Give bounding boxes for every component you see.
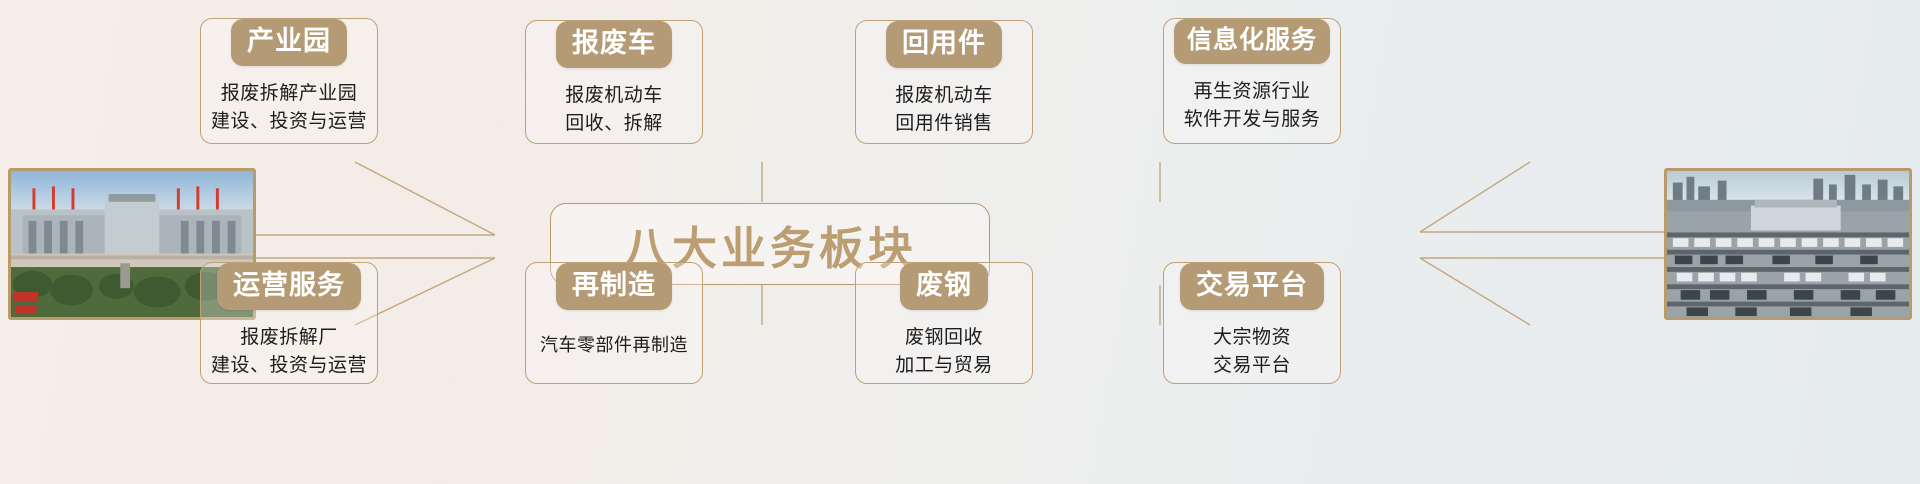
card-badge-industrial-park: 产业园	[231, 19, 347, 66]
card-trading-platform[interactable]: 交易平台 大宗物资 交易平台	[1163, 262, 1341, 384]
card-badge-operation-service: 运营服务	[217, 263, 361, 310]
card-desc-scrap-vehicle: 报废机动车 回收、拆解	[565, 82, 663, 137]
card-information-service[interactable]: 信息化服务 再生资源行业 软件开发与服务	[1163, 18, 1341, 144]
card-badge-reusable-parts: 回用件	[886, 21, 1002, 68]
card-desc-trading-platform: 大宗物资 交易平台	[1213, 324, 1291, 379]
card-desc-remanufacturing: 汽车零部件再制造	[540, 332, 688, 358]
card-scrap-vehicle[interactable]: 报废车 报废机动车 回收、拆解	[525, 20, 703, 144]
desc-line: 大宗物资	[1213, 324, 1291, 352]
desc-line: 废钢回收	[895, 324, 993, 352]
card-badge-trading-platform: 交易平台	[1180, 263, 1324, 310]
card-badge-information-service: 信息化服务	[1174, 19, 1330, 64]
desc-line: 加工与贸易	[895, 352, 993, 380]
desc-line: 回收、拆解	[565, 110, 663, 138]
card-badge-remanufacturing: 再制造	[556, 263, 672, 310]
desc-line: 再生资源行业	[1184, 78, 1321, 106]
desc-line: 汽车零部件再制造	[540, 332, 688, 358]
desc-line: 建设、投资与运营	[211, 108, 367, 136]
business-sectors-diagram: 八大业务板块 产业园 报废拆解产业园 建设、投资与运营 报废车 报废机动车 回收…	[0, 0, 1920, 484]
vehicle-dismantling-yard-photo	[1664, 168, 1912, 320]
card-reusable-parts[interactable]: 回用件 报废机动车 回用件销售	[855, 20, 1033, 144]
desc-line: 报废拆解厂	[211, 324, 367, 352]
card-desc-information-service: 再生资源行业 软件开发与服务	[1184, 78, 1321, 133]
card-badge-scrap-steel: 废钢	[900, 263, 988, 310]
card-remanufacturing[interactable]: 再制造 汽车零部件再制造	[525, 262, 703, 384]
card-badge-scrap-vehicle: 报废车	[556, 21, 672, 68]
card-desc-industrial-park: 报废拆解产业园 建设、投资与运营	[211, 80, 367, 135]
desc-line: 建设、投资与运营	[211, 352, 367, 380]
card-desc-reusable-parts: 报废机动车 回用件销售	[895, 82, 993, 137]
card-industrial-park[interactable]: 产业园 报废拆解产业园 建设、投资与运营	[200, 18, 378, 144]
desc-line: 交易平台	[1213, 352, 1291, 380]
card-desc-operation-service: 报废拆解厂 建设、投资与运营	[211, 324, 367, 379]
desc-line: 报废机动车	[565, 82, 663, 110]
desc-line: 软件开发与服务	[1184, 106, 1321, 134]
card-scrap-steel[interactable]: 废钢 废钢回收 加工与贸易	[855, 262, 1033, 384]
desc-line: 回用件销售	[895, 110, 993, 138]
desc-line: 报废拆解产业园	[211, 80, 367, 108]
card-operation-service[interactable]: 运营服务 报废拆解厂 建设、投资与运营	[200, 262, 378, 384]
desc-line: 报废机动车	[895, 82, 993, 110]
card-desc-scrap-steel: 废钢回收 加工与贸易	[895, 324, 993, 379]
